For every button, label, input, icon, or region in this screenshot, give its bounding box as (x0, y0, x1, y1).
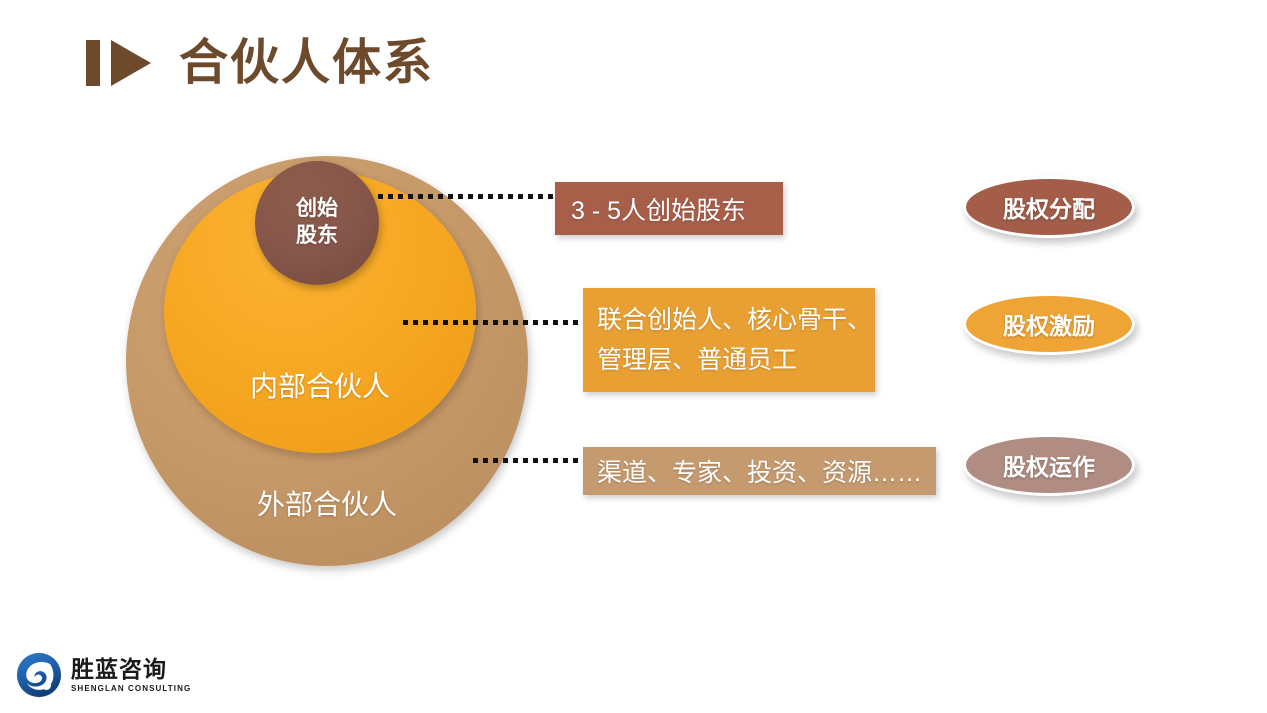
callout-internal-line1: 联合创始人、核心骨干、 (597, 306, 872, 334)
callout-founding-text: 3 - 5人创始股东 (571, 191, 746, 227)
logo-name-en: SHENGLAN CONSULTING (71, 684, 191, 693)
company-logo: 胜蓝咨询 SHENGLAN CONSULTING (16, 652, 191, 698)
circle-inner-label-line2: 股东 (296, 223, 338, 250)
badge-equity-incentive-label: 股权激励 (1003, 307, 1095, 341)
connector-line-internal (403, 320, 585, 325)
circle-founding-shareholders[interactable]: 创始 股东 (255, 161, 379, 285)
badge-equity-allocation-label: 股权分配 (1003, 190, 1095, 224)
badge-equity-operation[interactable]: 股权运作 (963, 434, 1135, 496)
slide-canvas: 合伙人体系 外部合伙人 内部合伙人 创始 股东 3 - 5人创始股东 联合创始人… (0, 0, 1267, 713)
callout-external-partners[interactable]: 渠道、专家、投资、资源…… (583, 447, 936, 495)
circle-inner-label-line1: 创始 (296, 196, 338, 223)
circle-inner-label: 创始 股东 (296, 196, 338, 250)
logo-text-block: 胜蓝咨询 SHENGLAN CONSULTING (71, 657, 191, 692)
page-title: 合伙人体系 (86, 32, 434, 94)
callout-founding-shareholders[interactable]: 3 - 5人创始股东 (555, 182, 783, 235)
connector-line-founding (378, 194, 556, 199)
badge-equity-operation-label: 股权运作 (1003, 448, 1095, 482)
circle-middle-label: 内部合伙人 (250, 365, 390, 405)
title-triangle-shape (111, 40, 151, 86)
badge-equity-incentive[interactable]: 股权激励 (963, 293, 1135, 355)
circle-outer-label: 外部合伙人 (257, 483, 397, 523)
callout-internal-partners[interactable]: 联合创始人、核心骨干、 管理层、普通员工 (583, 288, 875, 392)
badge-equity-allocation[interactable]: 股权分配 (963, 176, 1135, 238)
logo-name-cn: 胜蓝咨询 (71, 657, 191, 681)
page-title-text: 合伙人体系 (179, 39, 434, 88)
bar-play-triangle-icon (86, 40, 151, 86)
callout-external-text: 渠道、专家、投资、资源…… (597, 453, 922, 489)
callout-internal-line2: 管理层、普通员工 (597, 346, 797, 374)
callout-internal-text: 联合创始人、核心骨干、 管理层、普通员工 (597, 300, 872, 381)
title-bar-shape (86, 40, 100, 86)
connector-line-external (473, 458, 585, 463)
swirl-circle-logo-icon (16, 652, 62, 698)
